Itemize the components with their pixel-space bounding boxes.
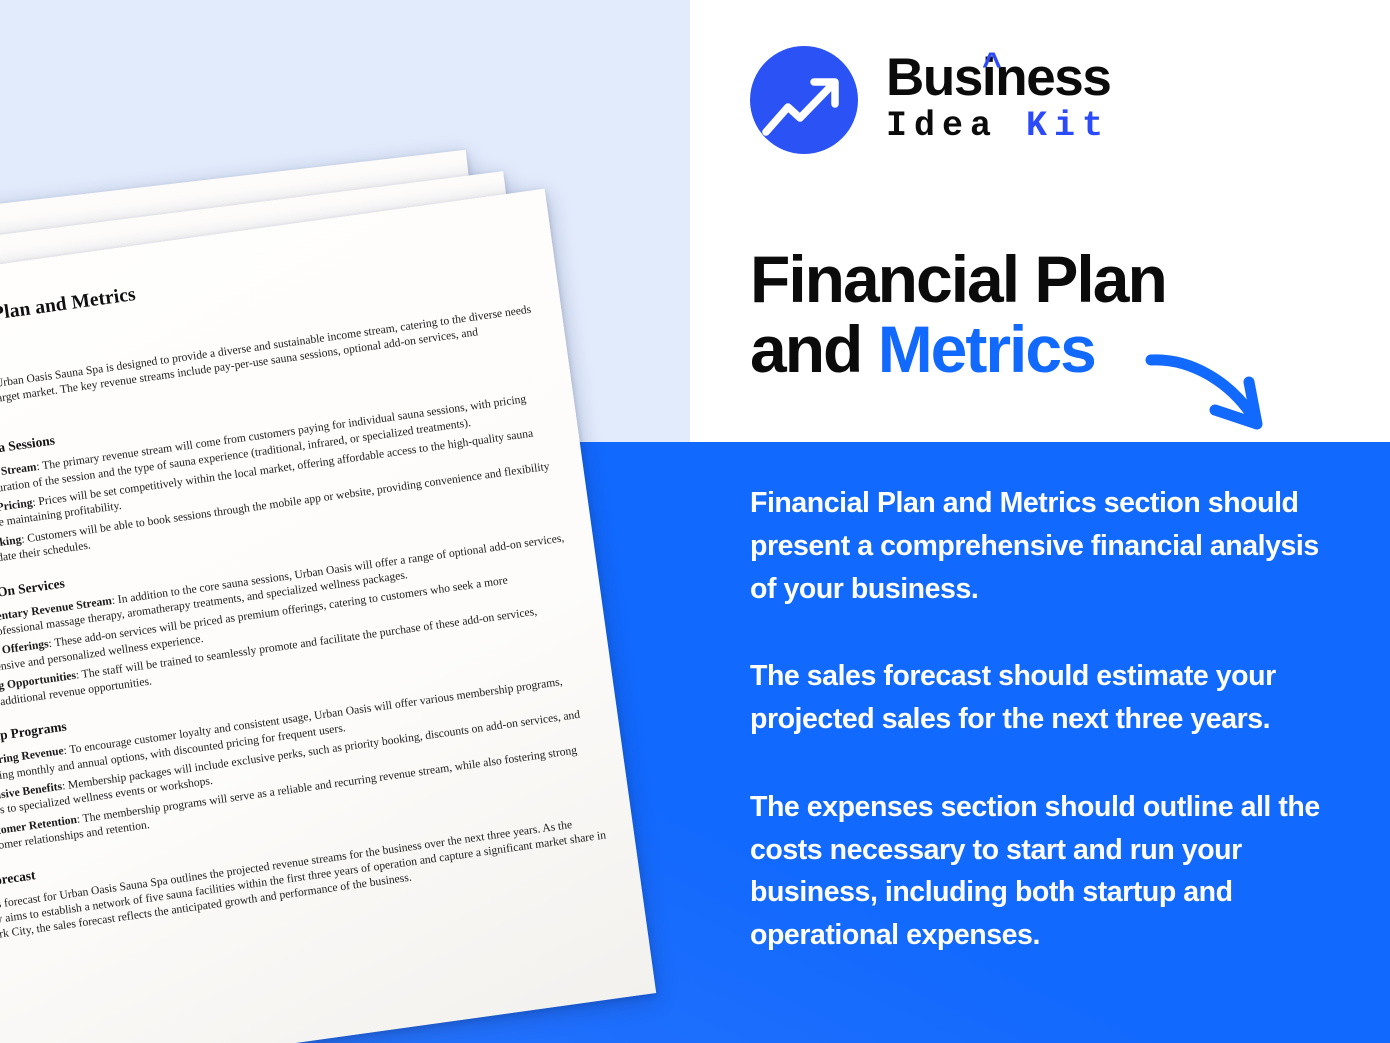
brand-name-kit: Kit [1026,106,1110,146]
copy-paragraph-2: The sales forecast should estimate your … [750,655,1350,741]
brand-logo: Business ^ Idea Kit [748,44,1110,156]
page-title-and: and [750,312,878,386]
brand-wordmark: Business ^ Idea Kit [886,52,1110,147]
document-page-stack: VI. Financial Plan and Metrics Revenue M… [0,0,760,1043]
copy-paragraph-1: Financial Plan and Metrics section shoul… [750,482,1350,610]
page-title-line-1: Financial Plan [750,245,1350,315]
slide-canvas: VI. Financial Plan and Metrics Revenue M… [0,0,1390,1043]
growth-chart-arrow-icon [748,44,860,156]
curved-arrow-down-right-icon [1145,352,1285,442]
brand-name-idea: Idea [886,106,998,146]
copy-paragraph-3: The expenses section should outline all … [750,786,1350,957]
document-page-front: VI. Financial Plan and Metrics Revenue M… [0,189,656,1043]
brand-name-idea-kit: Idea Kit [886,106,1110,147]
brand-name-business: Business ^ [886,52,1110,104]
circumflex-accent-icon: ^ [982,48,1000,82]
page-title-accent: Metrics [878,312,1095,386]
description-copy: Financial Plan and Metrics section shoul… [750,482,1350,957]
